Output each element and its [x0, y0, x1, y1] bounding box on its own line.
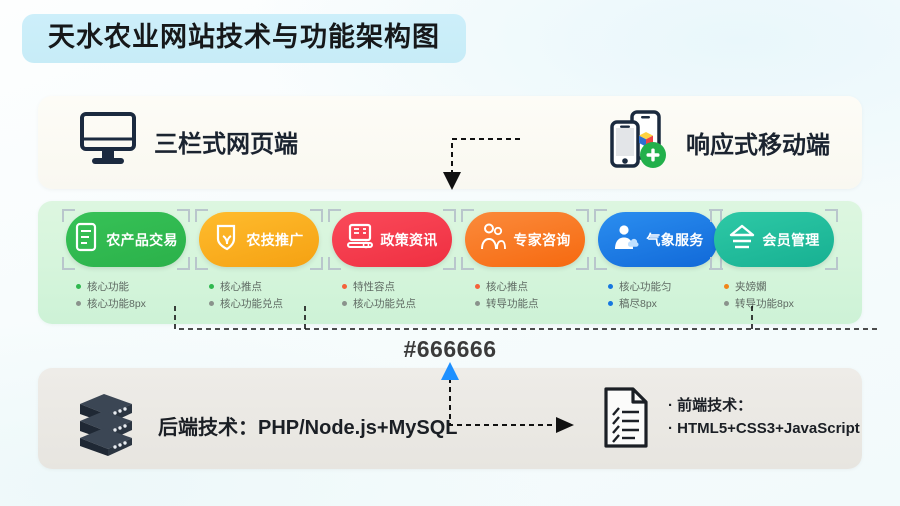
tech-backend: 后端技术：PHP/Node.js+MySQL: [70, 390, 458, 461]
bracket-icon: [177, 209, 190, 222]
feature-label: 转导功能点: [486, 296, 539, 311]
bullet-dot-icon: [209, 284, 214, 289]
bracket-icon: [594, 257, 607, 270]
hui-character-icon: [728, 222, 756, 257]
module-pill[interactable]: 农技推广: [199, 212, 319, 267]
bracket-icon: [461, 257, 474, 270]
module-features: 夹嫎嫻 转导功能8px: [710, 278, 838, 312]
module-pill[interactable]: 气象服务: [598, 212, 718, 267]
module-expert-consult[interactable]: 专家咨询 核心推点 转导功能点: [461, 212, 589, 312]
feature-item: 核心功能: [76, 278, 190, 295]
tech-frontend-bullets: · 前端技术： · HTML5+CSS3+JavaScript: [668, 386, 860, 441]
bullet-dot-icon: [475, 284, 480, 289]
modules-row: 农产品交易 核心功能 核心功能8px: [38, 201, 862, 324]
module-agri-tech-promotion[interactable]: 农技推广 核心推点 核心功能兑点: [195, 212, 323, 312]
bracket-icon: [328, 209, 341, 222]
feature-item: 特性容点: [342, 278, 456, 295]
bracket-icon: [443, 257, 456, 270]
client-mobile[interactable]: 响应式移动端: [608, 110, 830, 175]
code-document-icon: [600, 386, 652, 455]
tech-frontend-bullet: · 前端技术：: [668, 394, 860, 417]
bullet-dot-icon: [76, 301, 81, 306]
module-features: 核心推点 核心功能兑点: [195, 278, 323, 312]
hex-color-label: #666666: [0, 336, 900, 363]
feature-label: 转导功能8px: [735, 296, 794, 311]
feature-label: 特性容点: [353, 279, 395, 294]
bracket-icon: [177, 257, 190, 270]
bullet-dot-icon: [608, 284, 613, 289]
bullet-dot-icon: [209, 301, 214, 306]
feature-item: 稿尽8px: [608, 295, 722, 312]
feature-item: 核心推点: [209, 278, 323, 295]
feature-label: 核心功能匀: [619, 279, 672, 294]
feature-item: 核心功能8px: [76, 295, 190, 312]
module-pill[interactable]: 农产品交易: [66, 212, 186, 267]
module-pill[interactable]: 会员管理: [714, 212, 834, 267]
bullet-dot-icon: [76, 284, 81, 289]
module-label: 气象服务: [646, 230, 703, 250]
module-label: 农技推广: [246, 230, 303, 250]
bracket-icon: [576, 209, 589, 222]
server-stack-icon: [70, 390, 140, 461]
news-terminal-icon: [346, 222, 374, 257]
feature-label: 核心功能兑点: [353, 296, 416, 311]
client-mobile-label: 响应式移动端: [686, 125, 830, 160]
bracket-icon: [310, 209, 323, 222]
module-label: 专家咨询: [513, 230, 570, 250]
bracket-icon: [825, 257, 838, 270]
tech-frontend: · 前端技术： · HTML5+CSS3+JavaScript: [600, 386, 860, 455]
client-web-label: 三栏式网页端: [154, 124, 298, 159]
bracket-icon: [594, 209, 607, 222]
bracket-icon: [195, 209, 208, 222]
module-features: 核心推点 转导功能点: [461, 278, 589, 312]
module-label: 农产品交易: [106, 230, 178, 250]
module-agri-product-trade[interactable]: 农产品交易 核心功能 核心功能8px: [62, 212, 190, 312]
module-label: 会员管理: [762, 230, 819, 250]
bullet-dot-icon: [724, 301, 729, 306]
feature-label: 夹嫎嫻: [735, 279, 767, 294]
feature-label: 核心功能: [87, 279, 129, 294]
module-policy-news[interactable]: 政策资讯 特性容点 核心功能兑点: [328, 212, 456, 312]
module-pill[interactable]: 政策资讯: [332, 212, 452, 267]
page-title: 天水农业网站技术与功能架构图: [48, 24, 440, 51]
bracket-icon: [825, 209, 838, 222]
bracket-icon: [461, 209, 474, 222]
bracket-icon: [443, 209, 456, 222]
bracket-icon: [62, 257, 75, 270]
bracket-icon: [62, 209, 75, 222]
bracket-icon: [195, 257, 208, 270]
bullet-dot-icon: [342, 301, 347, 306]
feature-label: 稿尽8px: [619, 296, 657, 311]
feature-item: 核心功能兑点: [342, 295, 456, 312]
tech-backend-label: 后端技术：PHP/Node.js+MySQL: [158, 411, 458, 440]
bracket-icon: [328, 257, 341, 270]
feature-label: 核心功能8px: [87, 296, 146, 311]
feature-item: 核心功能兑点: [209, 295, 323, 312]
module-label: 政策资讯: [380, 230, 437, 250]
mobile-phones-plus-icon: [608, 110, 670, 175]
document-list-icon: [74, 222, 100, 257]
feature-label: 核心功能兑点: [220, 296, 283, 311]
bracket-icon: [710, 257, 723, 270]
page-title-badge: 天水农业网站技术与功能架构图: [22, 14, 466, 63]
module-pill[interactable]: 专家咨询: [465, 212, 585, 267]
feature-item: 夹嫎嫻: [724, 278, 838, 295]
feature-item: 核心功能匀: [608, 278, 722, 295]
module-features: 核心功能 核心功能8px: [62, 278, 190, 312]
person-cloud-icon: [612, 222, 640, 257]
feature-item: 核心推点: [475, 278, 589, 295]
module-weather-service[interactable]: 气象服务 核心功能匀 稿尽8px: [594, 212, 722, 312]
feature-item: 转导功能点: [475, 295, 589, 312]
feature-label: 核心推点: [220, 279, 262, 294]
desktop-monitor-icon: [78, 110, 138, 173]
client-web[interactable]: 三栏式网页端: [78, 110, 298, 173]
bullet-dot-icon: [342, 284, 347, 289]
module-features: 特性容点 核心功能兑点: [328, 278, 456, 312]
module-features: 核心功能匀 稿尽8px: [594, 278, 722, 312]
feature-label: 核心推点: [486, 279, 528, 294]
feature-item: 转导功能8px: [724, 295, 838, 312]
bullet-dot-icon: [475, 301, 480, 306]
tech-frontend-bullet: · HTML5+CSS3+JavaScript: [668, 417, 860, 440]
module-member-management[interactable]: 会员管理 夹嫎嫻 转导功能8px: [710, 212, 838, 312]
two-people-icon: [479, 222, 507, 257]
bracket-icon: [310, 257, 323, 270]
bracket-icon: [576, 257, 589, 270]
bullet-dot-icon: [724, 284, 729, 289]
bracket-icon: [710, 209, 723, 222]
bullet-dot-icon: [608, 301, 613, 306]
shield-plant-icon: [214, 222, 240, 257]
